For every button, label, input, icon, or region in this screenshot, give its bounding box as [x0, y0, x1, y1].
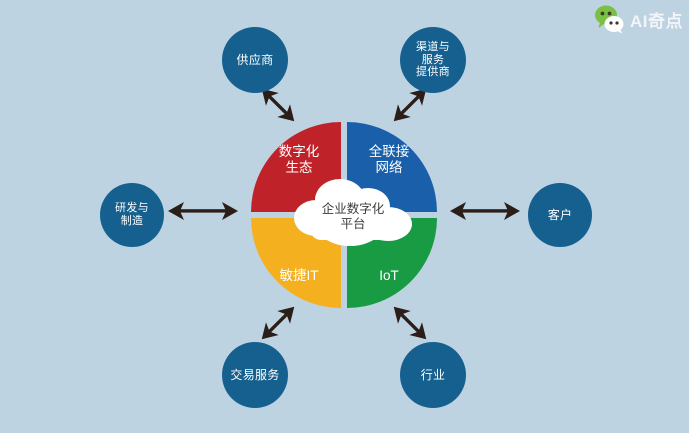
- quadrant-digital-ecosystem-line1: 数字化: [279, 144, 320, 160]
- node-industry[interactable]: 行业: [400, 342, 466, 408]
- node-supplier-label: 供应商: [237, 53, 274, 67]
- node-transaction-label: 交易服务: [230, 368, 279, 382]
- node-customer-label: 客户: [548, 208, 573, 222]
- arrow-right-horizontal: [450, 200, 520, 222]
- quadrant-connected-network-line2: 网络: [369, 160, 410, 176]
- node-transaction-service[interactable]: 交易服务: [222, 342, 288, 408]
- node-channel-line1: 渠道与: [416, 41, 450, 54]
- watermark-label: AI奇点: [630, 13, 683, 30]
- node-rnd-manufacturing[interactable]: 研发与 制造: [100, 183, 164, 247]
- node-customer[interactable]: 客户: [528, 183, 592, 247]
- arrow-left-horizontal: [168, 200, 238, 222]
- wechat-logo-icon: [593, 4, 627, 39]
- quadrant-iot-line1: IoT: [379, 268, 399, 284]
- quadrant-connected-network-line1: 全联接: [369, 144, 410, 160]
- diagram-canvas: 数字化 生态 全联接 网络 敏捷IT IoT: [0, 0, 689, 433]
- center-cloud: 企业数字化 平台: [288, 176, 428, 256]
- node-channel-service-provider[interactable]: 渠道与 服务 提供商: [400, 27, 466, 93]
- node-supplier[interactable]: 供应商: [222, 27, 288, 93]
- node-channel-line3: 提供商: [416, 66, 450, 79]
- node-channel-line2: 服务: [416, 54, 450, 67]
- node-rnd-line1: 研发与: [115, 202, 149, 215]
- quadrant-agile-it-line1: 敏捷IT: [280, 268, 319, 284]
- quadrant-digital-ecosystem-line2: 生态: [279, 160, 320, 176]
- node-industry-label: 行业: [421, 368, 446, 382]
- watermark: AI奇点: [593, 4, 683, 39]
- node-rnd-line2: 制造: [115, 215, 149, 228]
